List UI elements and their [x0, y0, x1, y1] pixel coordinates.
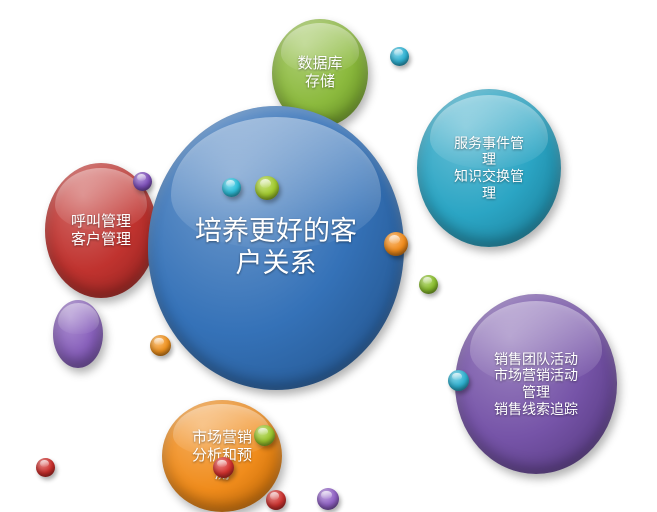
sphere-orange-core-left [150, 335, 171, 356]
sphere-purple-upper [133, 172, 152, 191]
bubble-blank-purple[interactable] [53, 300, 103, 368]
bubble-sales-marketing[interactable]: 销售团队活动 市场营销活动 管理 销售线索追踪 [455, 294, 617, 474]
bubble-label-sales-marketing: 销售团队活动 市场营销活动 管理 销售线索追踪 [488, 351, 584, 417]
sphere-red-core-bottom [213, 457, 234, 478]
sphere-purple-bottom [317, 488, 339, 510]
sphere-green-right [419, 275, 438, 294]
bubble-label-database-storage: 数据库 存储 [291, 55, 348, 90]
bubble-marketing-analysis[interactable]: 市场营销 分析和预 测 [162, 400, 282, 512]
bubble-service-knowledge[interactable]: 服务事件管 理 知识交换管 理 [417, 89, 561, 247]
sphere-teal-top [390, 47, 409, 66]
sphere-cyan-lower-right [448, 370, 469, 391]
sphere-cyan-core-left [222, 178, 241, 197]
sphere-red-bottom [266, 490, 286, 510]
sphere-green-core-top [255, 176, 279, 200]
bubble-label-service-knowledge: 服务事件管 理 知识交换管 理 [448, 135, 530, 201]
sphere-orange-core-right [384, 232, 408, 256]
sphere-green-core-bottom [254, 425, 275, 446]
bubble-diagram-canvas: 培养更好的客 户关系数据库 存储服务事件管 理 知识交换管 理呼叫管理 客户管理… [0, 0, 657, 511]
bubble-label-core: 培养更好的客 户关系 [189, 216, 363, 280]
bubble-core[interactable]: 培养更好的客 户关系 [148, 106, 404, 390]
bubble-label-call-customer-management: 呼叫管理 客户管理 [65, 213, 137, 248]
sphere-red-lower-left [36, 458, 55, 477]
